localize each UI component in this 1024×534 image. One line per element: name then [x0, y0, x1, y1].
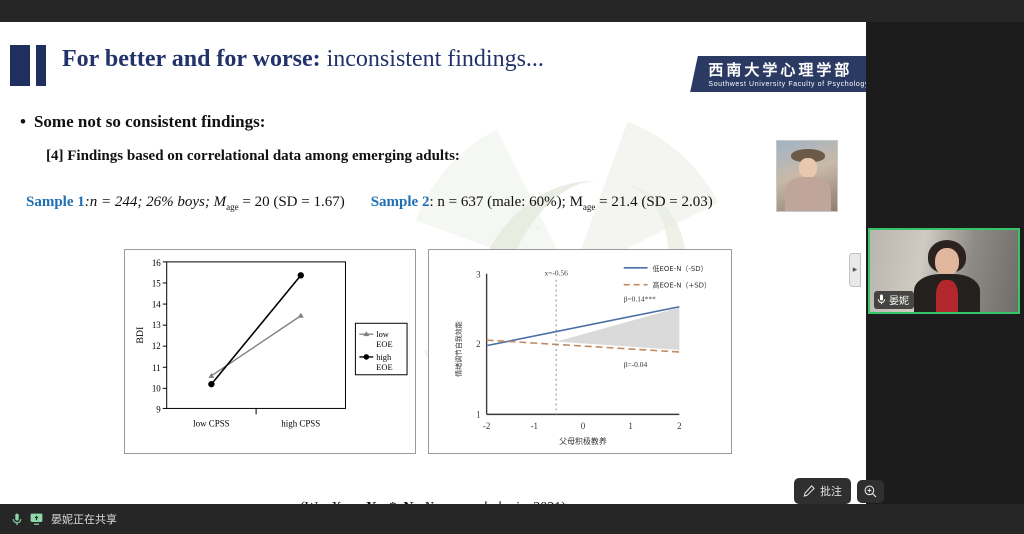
- sample1-tail: = 20 (SD = 1.67): [239, 194, 345, 210]
- svg-text:1: 1: [628, 421, 632, 431]
- svg-text:情绪调节自我效能: 情绪调节自我效能: [454, 321, 463, 376]
- participant-name-badge: 晏妮: [874, 291, 914, 309]
- presentation-slide: For better and for worse: inconsistent f…: [0, 22, 866, 504]
- university-logo: 西南大学心理学部 Southwest University Faculty of…: [690, 56, 866, 92]
- sample1-text: :n = 244; 26% boys; M: [85, 194, 226, 210]
- svg-text:EOE: EOE: [376, 339, 392, 349]
- logo-chinese-text: 西南大学心理学部: [708, 59, 866, 80]
- bullet-marker: •: [20, 112, 26, 131]
- page-title-bold: For better and for worse:: [62, 46, 321, 72]
- svg-text:10: 10: [152, 384, 161, 394]
- samples-line: Sample 1:n = 244; 26% boys; Mage = 20 (S…: [26, 194, 713, 212]
- svg-text:12: 12: [152, 341, 161, 351]
- svg-text:0: 0: [581, 421, 586, 431]
- participant-video-tile[interactable]: 晏妮: [868, 228, 1020, 314]
- sub-heading: [4] Findings based on correlational data…: [46, 148, 460, 165]
- svg-text:16: 16: [152, 258, 161, 268]
- svg-text:14: 14: [152, 299, 161, 309]
- sharing-status: 晏妮正在共享: [12, 511, 117, 527]
- svg-text:3: 3: [476, 270, 481, 280]
- sample1-label: Sample 1: [26, 194, 85, 210]
- video-person-face: [935, 248, 959, 276]
- chevron-right-icon: ▸: [853, 265, 858, 275]
- svg-text:high CPSS: high CPSS: [281, 418, 320, 428]
- top-chrome-bar: [0, 0, 1024, 22]
- microphone-icon[interactable]: [12, 513, 22, 526]
- sample2-tail: = 21.4 (SD = 2.03): [595, 194, 712, 210]
- slide-title-row: For better and for worse: inconsistent f…: [0, 32, 866, 86]
- svg-text:2: 2: [677, 421, 681, 431]
- collapse-panel-handle[interactable]: ▸: [849, 253, 861, 287]
- chart-bdi-cpss-eoe: 16 15 14 13 12 11 10 9 BDI low CPSS: [124, 249, 416, 454]
- svg-text:-1: -1: [531, 421, 538, 431]
- zoom-in-button[interactable]: [857, 480, 884, 503]
- svg-text:low CPSS: low CPSS: [193, 418, 229, 428]
- zoom-meeting-window: For better and for worse: inconsistent f…: [0, 0, 1024, 534]
- sample2-sub: age: [583, 202, 596, 212]
- chart-parenting-emotion-regulation: 3 2 1 -2 -1 0 1 2 父母积极教养 情绪调节自我效能: [428, 249, 732, 454]
- bullet-heading: •Some not so consistent findings:: [20, 112, 265, 132]
- svg-text:-2: -2: [483, 421, 490, 431]
- svg-text:13: 13: [152, 320, 161, 330]
- participant-name: 晏妮: [889, 292, 909, 307]
- page-title-rest: inconsistent findings...: [321, 46, 544, 72]
- pen-icon: [803, 485, 815, 497]
- svg-text:low: low: [376, 329, 390, 339]
- svg-text:父母积极教养: 父母积极教养: [559, 436, 607, 446]
- svg-text:高EOE-N（+SD）: 高EOE-N（+SD）: [653, 281, 711, 290]
- svg-text:β=-0.04: β=-0.04: [624, 360, 648, 369]
- svg-text:15: 15: [152, 279, 161, 289]
- page-title: For better and for worse: inconsistent f…: [62, 46, 544, 73]
- svg-text:BDI: BDI: [135, 327, 146, 344]
- annotate-label: 批注: [820, 483, 842, 499]
- title-accent-bar-thick: [10, 45, 30, 86]
- bullet-heading-text: Some not so consistent findings:: [34, 112, 265, 131]
- microphone-icon: [877, 294, 886, 305]
- bottom-chrome-bar: 晏妮正在共享: [0, 504, 1024, 534]
- svg-text:2: 2: [476, 339, 480, 349]
- svg-text:9: 9: [156, 404, 161, 414]
- sample2-label: Sample 2: [371, 194, 430, 210]
- svg-text:低EOE-N（-SD）: 低EOE-N（-SD）: [653, 264, 708, 273]
- svg-text:x=-0.56: x=-0.56: [544, 269, 568, 278]
- logo-english-text: Southwest University Faculty of Psycholo…: [708, 81, 866, 88]
- chart-right-svg: 3 2 1 -2 -1 0 1 2 父母积极教养 情绪调节自我效能: [429, 250, 731, 453]
- sharing-status-text: 晏妮正在共享: [51, 511, 117, 527]
- title-accent-bar-thin: [36, 45, 46, 86]
- magnifier-plus-icon: [864, 485, 877, 498]
- sample2-text: : n = 637 (male: 60%); M: [429, 194, 582, 210]
- chart-left-svg: 16 15 14 13 12 11 10 9 BDI low CPSS: [125, 250, 415, 453]
- svg-text:EOE: EOE: [376, 362, 392, 372]
- svg-text:high: high: [376, 352, 392, 362]
- svg-text:1: 1: [476, 409, 480, 419]
- portrait-photo: [776, 140, 838, 212]
- svg-text:β=0.14***: β=0.14***: [624, 295, 656, 304]
- shared-screen-region: For better and for worse: inconsistent f…: [0, 22, 866, 504]
- svg-text:11: 11: [152, 363, 161, 373]
- annotate-button[interactable]: 批注: [794, 478, 851, 504]
- sample1-sub: age: [226, 202, 239, 212]
- video-person-shirt: [936, 280, 958, 314]
- screen-share-icon[interactable]: [30, 513, 43, 525]
- annotation-toolbar: 批注: [794, 478, 884, 504]
